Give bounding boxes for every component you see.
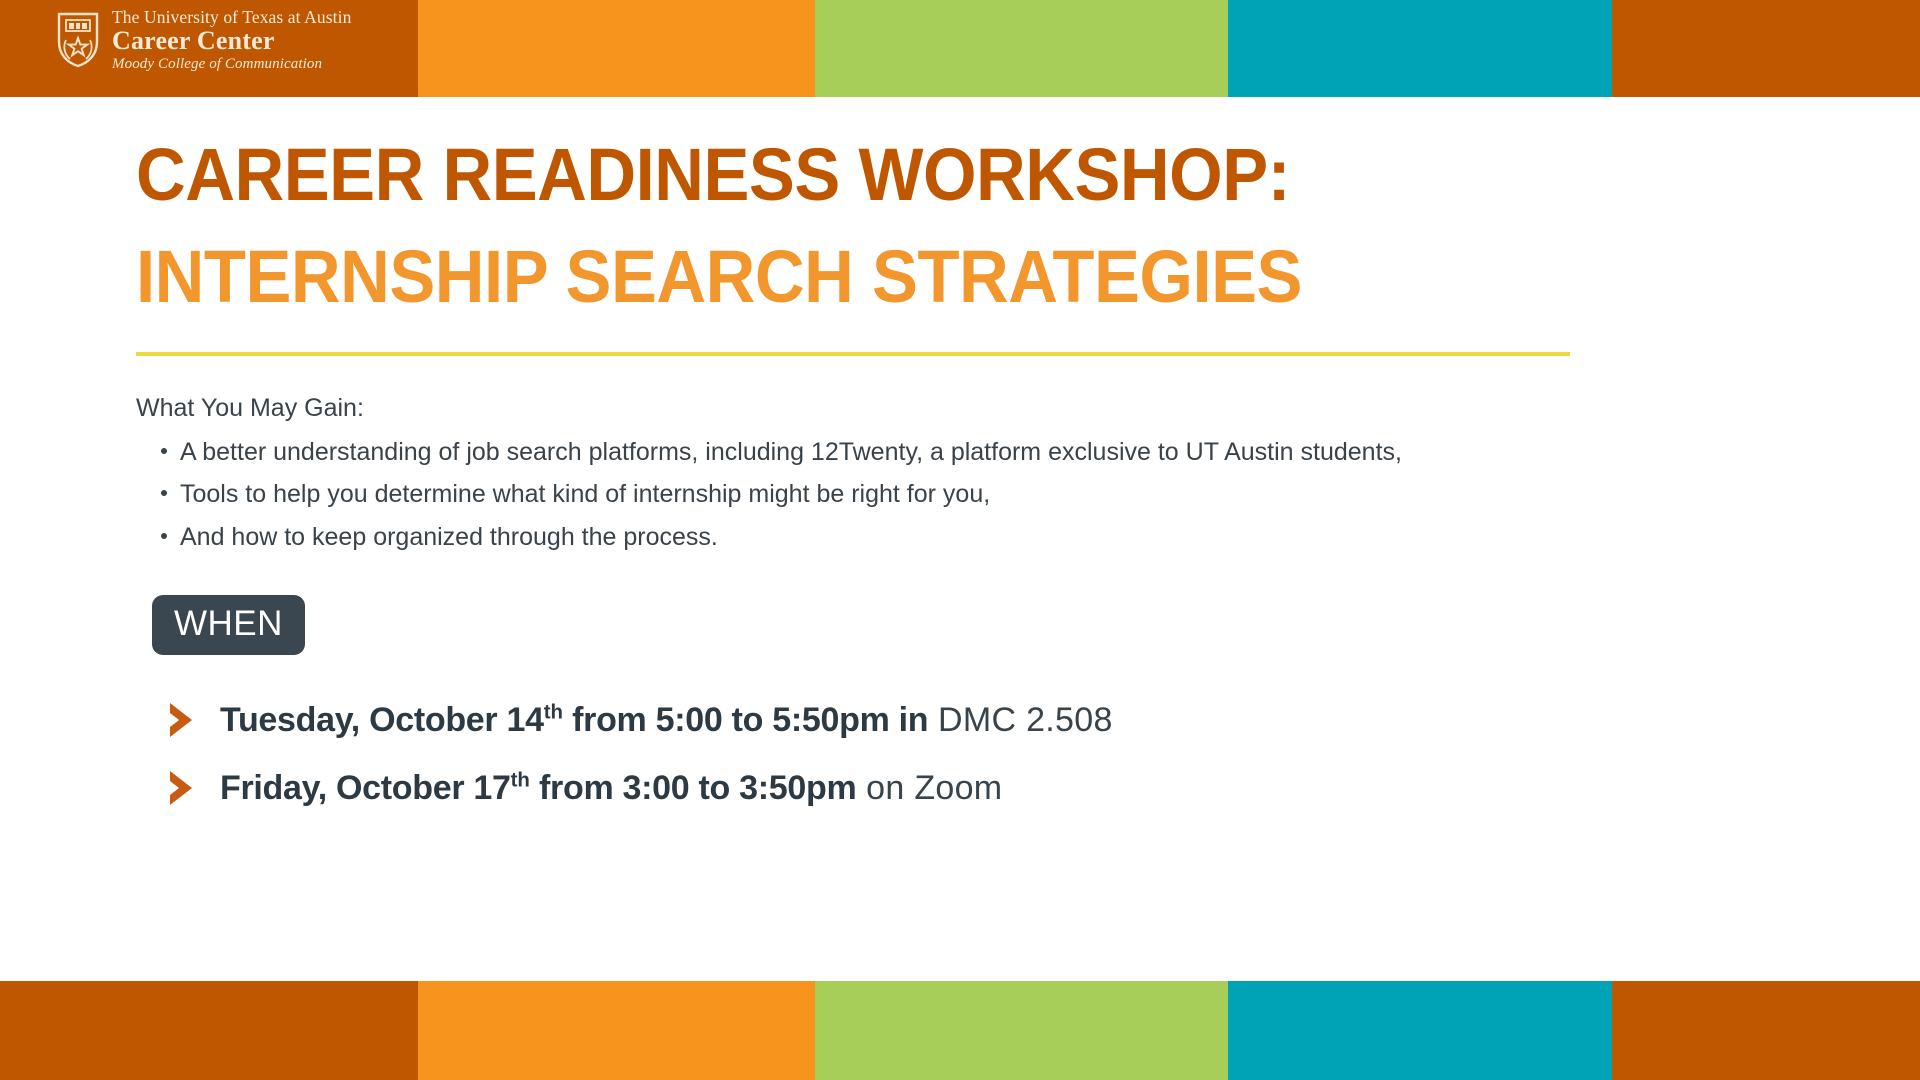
title-line-1: CAREER READINESS WORKSHOP:	[136, 135, 1587, 215]
band-teal	[1228, 0, 1612, 97]
band-burnt-orange	[0, 981, 418, 1080]
bullet-dot-icon	[161, 533, 167, 539]
event-bold-time: from 3:00 to 3:50pm	[530, 769, 857, 807]
logo-wordmark: The University of Texas at Austin Career…	[112, 8, 351, 73]
event-location: DMC 2.508	[928, 701, 1112, 739]
event-ordinal: th	[544, 701, 563, 723]
event-row-tuesday: Tuesday, October 14th from 5:00 to 5:50p…	[166, 700, 1766, 740]
bullet-text: Tools to help you determine what kind of…	[180, 478, 990, 511]
band-orange	[418, 981, 815, 1080]
band-burnt-orange-2	[1612, 981, 1920, 1080]
gain-bullet-list: A better understanding of job search pla…	[136, 436, 1836, 554]
what-you-may-gain-section: What You May Gain: A better understandin…	[136, 392, 1836, 553]
event-ordinal: th	[511, 769, 530, 791]
list-item: A better understanding of job search pla…	[161, 436, 1836, 469]
event-bold-time: from 5:00 to 5:50pm in	[563, 701, 928, 739]
logo-moody-college: Moody College of Communication	[112, 56, 322, 72]
page-title: CAREER READINESS WORKSHOP: INTERNSHIP SE…	[136, 135, 1696, 317]
slide-canvas: The University of Texas at Austin Career…	[0, 0, 1920, 1080]
event-location: on Zoom	[856, 769, 1002, 807]
list-item: Tools to help you determine what kind of…	[161, 478, 1836, 511]
bullet-dot-icon	[161, 448, 167, 454]
logo-career-center: Career Center	[112, 26, 275, 55]
title-line-2: INTERNSHIP SEARCH STRATEGIES	[136, 237, 1587, 317]
bullet-text: A better understanding of job search pla…	[180, 436, 1402, 469]
status-badge-when: WHEN	[152, 595, 305, 655]
event-text: Tuesday, October 14th from 5:00 to 5:50p…	[220, 701, 1113, 740]
gain-label: What You May Gain:	[136, 392, 1836, 426]
event-bold-date: Tuesday, October 14	[220, 701, 544, 739]
band-burnt-orange-2	[1612, 0, 1920, 97]
event-bold-date: Friday, October 17	[220, 769, 511, 807]
chevron-right-icon	[166, 700, 198, 740]
bullet-text: And how to keep organized through the pr…	[180, 521, 718, 554]
band-teal	[1228, 981, 1612, 1080]
event-text: Friday, October 17th from 3:00 to 3:50pm…	[220, 769, 1002, 808]
bullet-dot-icon	[161, 490, 167, 496]
ut-career-center-logo: The University of Texas at Austin Career…	[56, 8, 351, 73]
event-list: Tuesday, October 14th from 5:00 to 5:50p…	[166, 700, 1766, 836]
bottom-color-band-strip	[0, 981, 1920, 1080]
band-orange	[418, 0, 815, 97]
band-green	[815, 981, 1228, 1080]
chevron-right-icon	[166, 768, 198, 808]
list-item: And how to keep organized through the pr…	[161, 521, 1836, 554]
title-divider-rule	[136, 352, 1570, 356]
ut-shield-icon	[56, 12, 100, 68]
band-green	[815, 0, 1228, 97]
logo-university-name: The University of Texas at Austin	[112, 7, 351, 27]
event-row-friday: Friday, October 17th from 3:00 to 3:50pm…	[166, 768, 1766, 808]
